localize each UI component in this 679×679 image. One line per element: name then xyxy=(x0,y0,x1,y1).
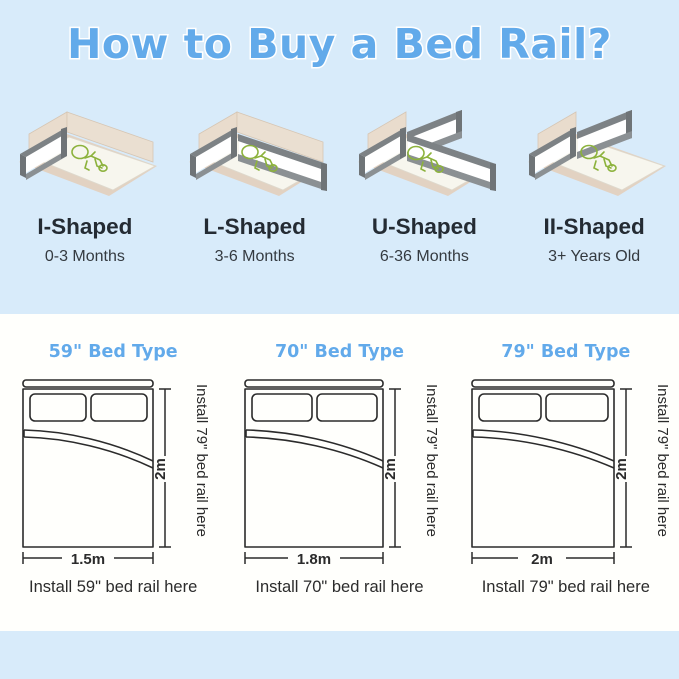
rail-shape-name: U-Shaped xyxy=(340,214,510,240)
bed-length-label: 2m xyxy=(382,458,399,480)
bed-width-label: 1.8m xyxy=(297,551,331,568)
rail-shape-item-ii: II-Shaped 3+ Years Old xyxy=(509,104,679,289)
rail-shape-age: 6-36 Months xyxy=(340,248,510,266)
bottom-background-band xyxy=(0,631,679,679)
bed-type-caption: Install 59" bed rail here xyxy=(0,578,226,597)
bed-rail-ii-icon xyxy=(514,104,674,204)
rail-shape-age: 3+ Years Old xyxy=(509,248,679,266)
rail-shape-age: 3-6 Months xyxy=(170,248,340,266)
bed-length-label: 2m xyxy=(152,458,169,480)
bed-rail-i-icon xyxy=(5,104,165,204)
side-note-label: Install 79" bed rail here xyxy=(654,384,671,537)
bed-type-item-59: 59" Bed Type xyxy=(0,320,226,620)
infographic-page: How to Buy a Bed Rail? xyxy=(0,0,679,679)
bed-rail-u-icon xyxy=(344,104,504,204)
bed-plan-diagram-59: 2m 1.5m Install 79" bed rail here xyxy=(5,368,221,574)
bed-type-title: 79" Bed Type xyxy=(453,342,679,362)
bed-type-caption: Install 79" bed rail here xyxy=(453,578,679,597)
bed-type-title: 59" Bed Type xyxy=(0,342,226,362)
bed-type-caption: Install 70" bed rail here xyxy=(226,578,452,597)
bed-type-item-70: 70" Bed Type xyxy=(226,320,452,620)
rail-shape-age: 0-3 Months xyxy=(0,248,170,266)
rail-shapes-row: I-Shaped 0-3 Months xyxy=(0,104,679,289)
bed-plan-diagram-79: 2m 2m Install 79" bed rail here xyxy=(458,368,674,574)
bed-rail-l-icon xyxy=(175,104,335,204)
rail-shape-item-i: I-Shaped 0-3 Months xyxy=(0,104,170,289)
side-note-label: Install 79" bed rail here xyxy=(193,384,210,537)
side-note-label: Install 79" bed rail here xyxy=(423,384,440,537)
bed-type-title: 70" Bed Type xyxy=(226,342,452,362)
rail-shape-name: I-Shaped xyxy=(0,214,170,240)
bed-width-label: 2m xyxy=(531,551,553,568)
bed-width-label: 1.5m xyxy=(71,551,105,568)
bed-length-label: 2m xyxy=(613,458,630,480)
page-title: How to Buy a Bed Rail? xyxy=(0,20,679,68)
bed-plan-diagram-70: 2m 1.8m Install 79" bed rail here xyxy=(231,368,447,574)
bed-types-row: 59" Bed Type xyxy=(0,320,679,620)
rail-shape-name: L-Shaped xyxy=(170,214,340,240)
rail-shape-name: II-Shaped xyxy=(509,214,679,240)
bed-type-item-79: 79" Bed Type xyxy=(453,320,679,620)
rail-shape-item-l: L-Shaped 3-6 Months xyxy=(170,104,340,289)
rail-shape-item-u: U-Shaped 6-36 Months xyxy=(340,104,510,289)
